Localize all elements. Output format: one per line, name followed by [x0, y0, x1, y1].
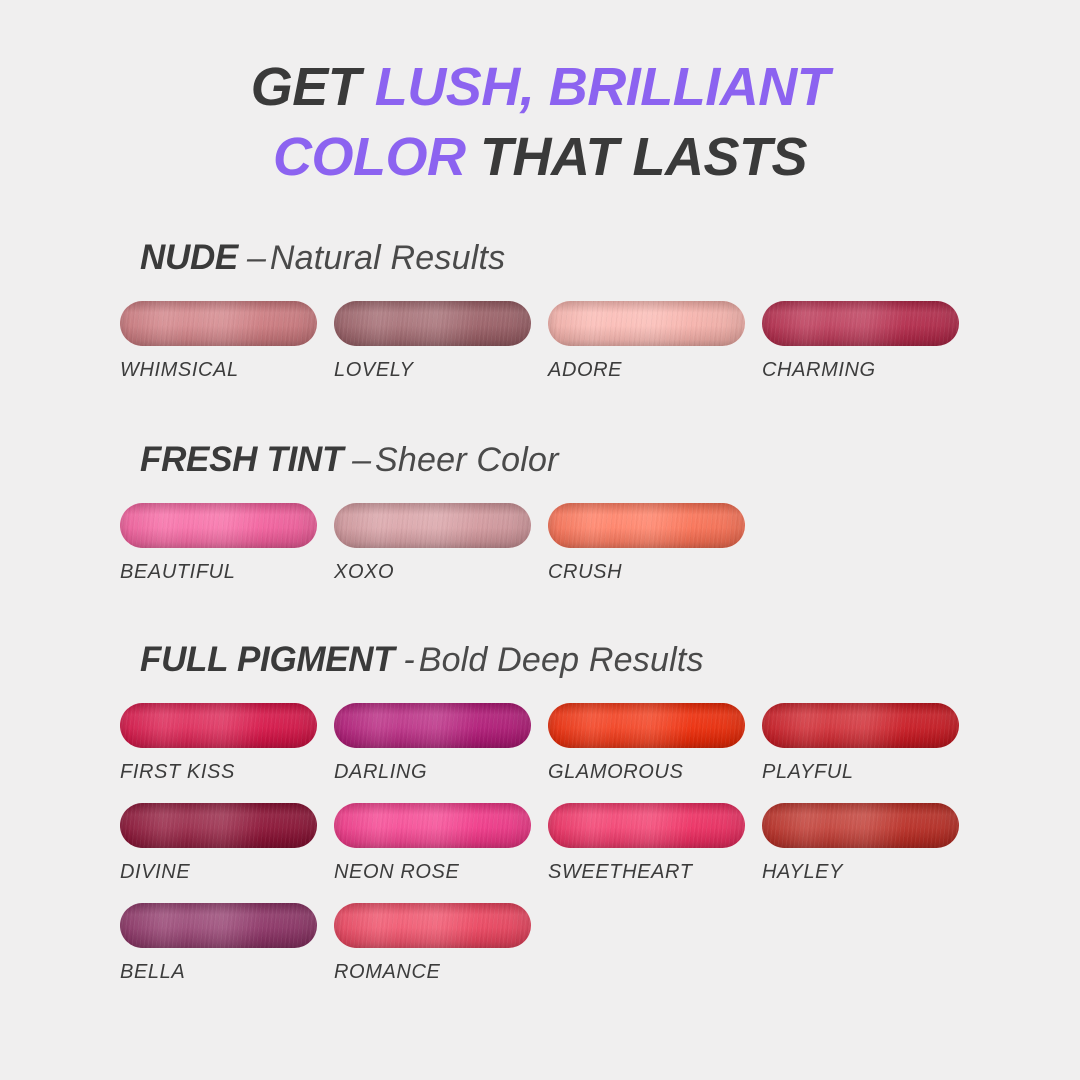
swatch-row: BEAUTIFUL XOXO CRUSH: [120, 503, 1080, 603]
swatch-texture-grain: [334, 803, 531, 848]
swatch-color-first-kiss[interactable]: [120, 703, 317, 748]
swatch-cell-xoxo[interactable]: XOXO: [334, 503, 531, 584]
swatch-color-charming[interactable]: [762, 301, 959, 346]
swatch-cell-crush[interactable]: CRUSH: [548, 503, 745, 584]
swatch-row: DIVINE NEON ROSE SWEETHEART: [120, 803, 1080, 903]
section-fresh-tint-heading: FRESH TINT–Sheer Color: [140, 442, 1080, 477]
swatch-texture-sheen: [120, 703, 317, 748]
section-full-pigment-description: Bold Deep Results: [419, 641, 704, 679]
swatch-texture-sheen: [548, 301, 745, 346]
swatch-color-glamorous[interactable]: [548, 703, 745, 748]
swatch-cell-neon-rose[interactable]: NEON ROSE: [334, 803, 531, 884]
swatch-texture-grain: [120, 503, 317, 548]
swatch-texture-shade: [120, 803, 317, 848]
page-title-line-2-plain: THAT LASTS: [480, 127, 807, 187]
swatch-texture-grain: [334, 903, 531, 948]
swatch-texture-grain: [548, 703, 745, 748]
swatch-label: ROMANCE: [334, 961, 531, 984]
swatch-cell-divine[interactable]: DIVINE: [120, 803, 317, 884]
swatch-texture-grain: [120, 803, 317, 848]
swatch-texture-grain: [548, 503, 745, 548]
swatch-texture-shade: [334, 703, 531, 748]
swatch-label: CRUSH: [548, 561, 745, 584]
page-title-line-1: GET LUSH, BRILLIANT: [0, 52, 1080, 122]
swatch-cell-first-kiss[interactable]: FIRST KISS: [120, 703, 317, 784]
swatch-cell-hayley[interactable]: HAYLEY: [762, 803, 959, 884]
swatch-texture-grain: [762, 803, 959, 848]
section-nude: NUDE–Natural Results WHIMSICAL LOVELY: [0, 240, 1080, 401]
section-full-pigment-heading: FULL PIGMENT-Bold Deep Results: [140, 642, 1080, 677]
swatch-row: FIRST KISS DARLING GLAMOROUS: [120, 703, 1080, 803]
swatch-color-neon-rose[interactable]: [334, 803, 531, 848]
swatch-texture-grain: [334, 301, 531, 346]
swatch-texture-sheen: [120, 803, 317, 848]
swatch-texture-grain: [334, 503, 531, 548]
swatch-label: DARLING: [334, 761, 531, 784]
swatch-texture-shade: [120, 301, 317, 346]
swatch-color-adore[interactable]: [548, 301, 745, 346]
section-nude-description: Natural Results: [270, 239, 505, 277]
swatch-texture-sheen: [334, 803, 531, 848]
swatch-label: SWEETHEART: [548, 861, 745, 884]
swatch-label: DIVINE: [120, 861, 317, 884]
swatch-texture-sheen: [334, 703, 531, 748]
swatch-color-xoxo[interactable]: [334, 503, 531, 548]
swatch-label: HAYLEY: [762, 861, 959, 884]
swatch-texture-shade: [334, 903, 531, 948]
swatch-label: ADORE: [548, 359, 745, 382]
swatch-texture-sheen: [120, 903, 317, 948]
swatch-color-lovely[interactable]: [334, 301, 531, 346]
swatch-texture-sheen: [548, 503, 745, 548]
swatch-color-bella[interactable]: [120, 903, 317, 948]
swatch-cell-darling[interactable]: DARLING: [334, 703, 531, 784]
swatch-color-divine[interactable]: [120, 803, 317, 848]
swatch-texture-shade: [548, 503, 745, 548]
swatch-texture-grain: [120, 301, 317, 346]
section-full-pigment-separator: -: [394, 641, 418, 679]
swatch-label: NEON ROSE: [334, 861, 531, 884]
swatch-row: WHIMSICAL LOVELY ADORE: [120, 301, 1080, 401]
swatch-color-hayley[interactable]: [762, 803, 959, 848]
swatch-cell-lovely[interactable]: LOVELY: [334, 301, 531, 382]
swatch-label: GLAMOROUS: [548, 761, 745, 784]
swatch-texture-shade: [120, 903, 317, 948]
swatch-texture-grain: [120, 903, 317, 948]
swatch-texture-sheen: [548, 803, 745, 848]
swatch-texture-sheen: [762, 703, 959, 748]
swatch-texture-shade: [120, 503, 317, 548]
swatch-cell-sweetheart[interactable]: SWEETHEART: [548, 803, 745, 884]
swatch-label: LOVELY: [334, 359, 531, 382]
swatch-color-playful[interactable]: [762, 703, 959, 748]
swatch-texture-shade: [334, 301, 531, 346]
swatch-texture-shade: [120, 703, 317, 748]
section-full-pigment-name: FULL PIGMENT: [140, 640, 394, 679]
swatch-texture-sheen: [762, 803, 959, 848]
swatch-texture-shade: [548, 703, 745, 748]
swatch-color-beautiful[interactable]: [120, 503, 317, 548]
swatch-cell-charming[interactable]: CHARMING: [762, 301, 959, 382]
swatch-texture-sheen: [120, 301, 317, 346]
product-shade-chart: GET LUSH, BRILLIANT COLOR THAT LASTS NUD…: [0, 0, 1080, 1080]
swatch-texture-sheen: [548, 703, 745, 748]
page-title-line-2: COLOR THAT LASTS: [0, 122, 1080, 192]
swatch-label: XOXO: [334, 561, 531, 584]
swatch-texture-shade: [762, 301, 959, 346]
page-title-line-2-accent: COLOR: [273, 127, 480, 187]
swatch-texture-sheen: [120, 503, 317, 548]
swatch-texture-sheen: [334, 903, 531, 948]
swatch-texture-grain: [120, 703, 317, 748]
swatch-texture-shade: [334, 803, 531, 848]
section-fresh-tint: FRESH TINT–Sheer Color BEAUTIFUL XOXO: [0, 442, 1080, 603]
swatch-cell-whimsical[interactable]: WHIMSICAL: [120, 301, 317, 382]
section-nude-heading: NUDE–Natural Results: [140, 240, 1080, 275]
page-title-line-1-plain: GET: [251, 57, 375, 117]
page-title: GET LUSH, BRILLIANT COLOR THAT LASTS: [0, 52, 1080, 192]
swatch-row: BELLA ROMANCE: [120, 903, 1080, 1003]
swatch-texture-shade: [548, 301, 745, 346]
swatch-label: WHIMSICAL: [120, 359, 317, 382]
swatch-cell-romance[interactable]: ROMANCE: [334, 903, 531, 984]
swatch-label: BELLA: [120, 961, 317, 984]
swatch-texture-sheen: [334, 301, 531, 346]
section-nude-name: NUDE: [140, 238, 238, 277]
swatch-texture-shade: [762, 803, 959, 848]
swatch-color-sweetheart[interactable]: [548, 803, 745, 848]
swatch-color-whimsical[interactable]: [120, 301, 317, 346]
swatch-texture-grain: [548, 301, 745, 346]
section-fresh-tint-description: Sheer Color: [375, 441, 559, 479]
section-nude-separator: –: [238, 239, 270, 277]
swatch-cell-playful[interactable]: PLAYFUL: [762, 703, 959, 784]
section-fresh-tint-separator: –: [343, 441, 375, 479]
swatch-texture-grain: [334, 703, 531, 748]
swatch-label: PLAYFUL: [762, 761, 959, 784]
swatch-label: CHARMING: [762, 359, 959, 382]
swatch-texture-sheen: [334, 503, 531, 548]
swatch-texture-grain: [762, 301, 959, 346]
swatch-label: FIRST KISS: [120, 761, 317, 784]
swatch-cell-adore[interactable]: ADORE: [548, 301, 745, 382]
swatch-texture-shade: [548, 803, 745, 848]
swatch-texture-shade: [334, 503, 531, 548]
swatch-cell-glamorous[interactable]: GLAMOROUS: [548, 703, 745, 784]
swatch-color-darling[interactable]: [334, 703, 531, 748]
swatch-texture-shade: [762, 703, 959, 748]
swatch-cell-bella[interactable]: BELLA: [120, 903, 317, 984]
swatch-texture-grain: [548, 803, 745, 848]
swatch-cell-beautiful[interactable]: BEAUTIFUL: [120, 503, 317, 584]
swatch-label: BEAUTIFUL: [120, 561, 317, 584]
swatch-color-romance[interactable]: [334, 903, 531, 948]
swatch-texture-sheen: [762, 301, 959, 346]
swatch-color-crush[interactable]: [548, 503, 745, 548]
section-fresh-tint-name: FRESH TINT: [140, 440, 343, 479]
section-full-pigment: FULL PIGMENT-Bold Deep Results FIRST KIS…: [0, 642, 1080, 1003]
page-title-line-1-accent: LUSH, BRILLIANT: [375, 57, 829, 117]
swatch-texture-grain: [762, 703, 959, 748]
